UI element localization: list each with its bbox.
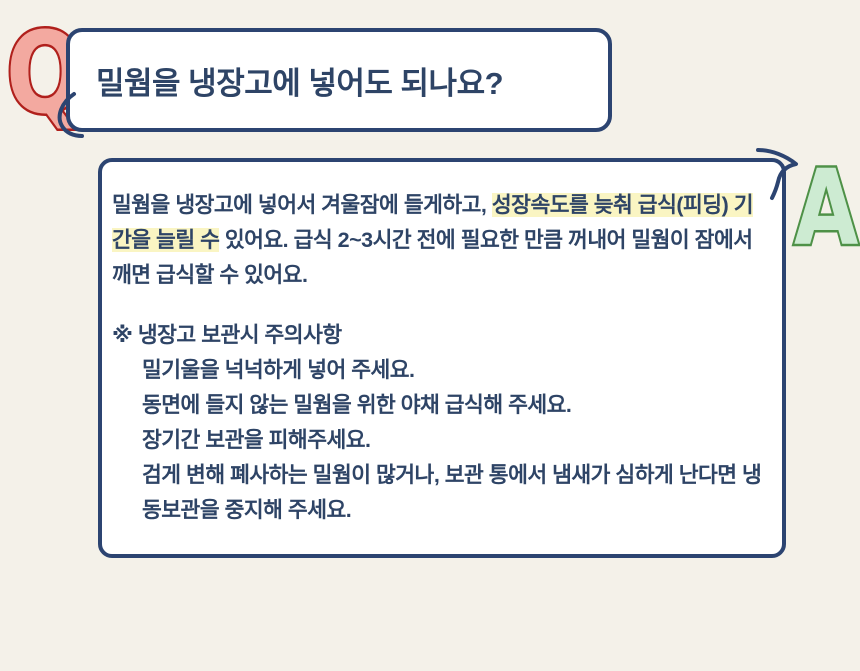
notes-section: ※ 냉장고 보관시 주의사항 밀기울을 넉넉하게 넣어 주세요. 동면에 들지 …	[112, 318, 772, 527]
note-item: 밀기울을 넉넉하게 넣어 주세요.	[112, 353, 772, 388]
answer-paragraph-lead: 밀웜을 냉장고에 넣어서 겨울잠에 들게하고,	[112, 193, 492, 217]
notes-heading: ※ 냉장고 보관시 주의사항	[112, 318, 772, 353]
question-bubble: 밀웜을 냉장고에 넣어도 되나요?	[66, 28, 612, 132]
answer-badge-letter: A	[794, 156, 858, 260]
answer-body: 밀웜을 냉장고에 넣어서 겨울잠에 들게하고, 성장속도를 늦춰 급식(피딩) …	[112, 188, 772, 527]
note-item: 동면에 들지 않는 밀웜을 위한 야채 급식해 주세요.	[112, 388, 772, 423]
question-text: 밀웜을 냉장고에 넣어도 되나요?	[70, 58, 503, 103]
infographic-canvas: Q 밀웜을 냉장고에 넣어도 되나요? A 밀웜을 냉장고에 넣어서 겨울잠에 …	[0, 0, 860, 671]
answer-paragraph: 밀웜을 냉장고에 넣어서 겨울잠에 들게하고, 성장속도를 늦춰 급식(피딩) …	[112, 188, 772, 292]
note-item: 검게 변해 폐사하는 밀웜이 많거나, 보관 통에서 냄새가 심하게 난다면 냉…	[112, 458, 772, 528]
note-item: 장기간 보관을 피해주세요.	[112, 423, 772, 458]
